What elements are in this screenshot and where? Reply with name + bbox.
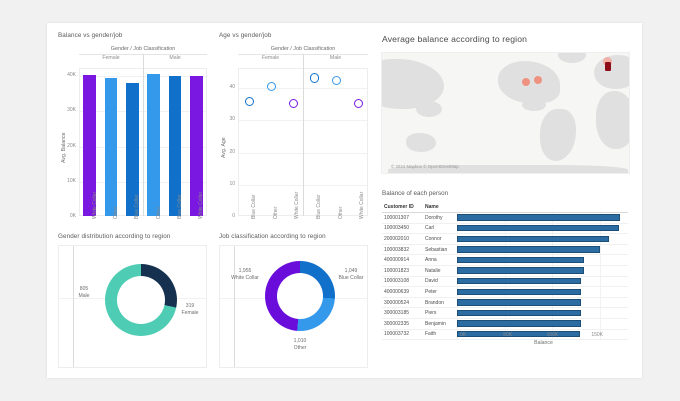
x-category-age: Blue Collar xyxy=(251,195,257,219)
cell-balance-bar xyxy=(457,255,628,265)
cell-balance-bar xyxy=(457,308,628,318)
cell-customer-id: 300002335 xyxy=(382,321,425,327)
cell-balance-bar xyxy=(457,266,628,276)
x-category-age: Blue Collar xyxy=(316,195,322,219)
x-axis-label-balance: Balance xyxy=(463,340,624,346)
gridline xyxy=(600,255,601,265)
x-category-age: Other xyxy=(273,206,279,219)
cell-customer-id: 100003450 xyxy=(382,225,425,231)
cell-customer-id: 100001823 xyxy=(382,268,425,274)
x-category-balance: Other xyxy=(113,206,119,219)
cell-customer-id: 200002010 xyxy=(382,236,425,242)
panel-average-balance-map: Average balance according to region © 20… xyxy=(374,28,637,186)
cell-balance-bar xyxy=(457,319,628,329)
cell-name: Peter xyxy=(425,289,457,295)
gridline xyxy=(600,266,601,276)
donut-label-blue-collar: 1,049Blue Collar xyxy=(330,268,372,282)
panel-title-job-classification: Job classification according to region xyxy=(213,229,373,243)
y-tick-age: 30 xyxy=(221,116,235,122)
y-tick-balance: 10K xyxy=(62,178,76,184)
column-header[interactable]: Customer ID xyxy=(382,204,425,210)
x-tick-balance: 50K xyxy=(503,332,512,338)
landmass-greenland xyxy=(558,52,586,63)
y-tick-balance: 20K xyxy=(62,143,76,149)
scatter-point-age[interactable] xyxy=(310,73,319,82)
bar-person-balance[interactable] xyxy=(457,214,620,220)
donut-label-other: 1,010Other xyxy=(278,338,322,352)
cell-name: Benjamin xyxy=(425,321,457,327)
map-marker-uk-core[interactable] xyxy=(605,62,611,71)
y-tick-age: 20 xyxy=(221,149,235,155)
bar-person-balance[interactable] xyxy=(457,310,581,316)
bar-person-balance[interactable] xyxy=(457,299,581,305)
landmass-australia xyxy=(406,133,436,152)
panel-gender-distribution: Gender distribution according to region … xyxy=(52,229,212,373)
map-title: Average balance according to region xyxy=(374,28,637,44)
x-axis-person-balance: 150K100K50K0K Balance xyxy=(463,332,624,346)
gender-job-caption-age: Gender / Job Classification xyxy=(238,46,368,52)
x-category-balance: White Collar xyxy=(198,192,204,219)
cell-name: Piers xyxy=(425,310,457,316)
bar-person-balance[interactable] xyxy=(457,257,584,263)
cell-customer-id: 400000914 xyxy=(382,257,425,263)
x-tick-balance: 100K xyxy=(547,332,559,338)
landmass-south-america xyxy=(540,109,576,161)
gridline xyxy=(600,245,601,255)
gender-divider-age xyxy=(303,54,304,216)
table-row[interactable]: 300000524Brandon xyxy=(382,298,628,309)
table-row[interactable]: 300002335Benjamin xyxy=(382,319,628,330)
table-row[interactable]: 100003108David xyxy=(382,277,628,288)
y-tick-age: 10 xyxy=(221,181,235,187)
cell-balance-bar xyxy=(457,287,628,297)
cell-name: Carl xyxy=(425,225,457,231)
group-header-male-age: Male xyxy=(303,55,368,61)
bar-person-balance[interactable] xyxy=(457,289,581,295)
scatter-point-age[interactable] xyxy=(354,99,363,108)
group-header-female: Female xyxy=(79,55,143,61)
group-header-male: Male xyxy=(143,55,207,61)
cell-name: David xyxy=(425,278,457,284)
table-row[interactable]: 100001823Natalie xyxy=(382,266,628,277)
bar-person-balance[interactable] xyxy=(457,236,609,242)
bar-person-balance[interactable] xyxy=(457,267,584,273)
gender-job-caption: Gender / Job Classification xyxy=(79,46,207,52)
cell-name: Natalie xyxy=(425,268,457,274)
scatter-point-age[interactable] xyxy=(289,99,298,108)
panel-title-balance: Balance vs gender/job xyxy=(52,28,212,42)
cell-customer-id: 100003832 xyxy=(382,247,425,253)
cell-balance-bar xyxy=(457,245,628,255)
group-header-female-age: Female xyxy=(238,55,303,61)
panel-balance-vs-gender-job: Balance vs gender/job Gender / Job Class… xyxy=(52,28,212,228)
cell-balance-bar xyxy=(457,224,628,234)
gender-divider xyxy=(143,54,144,216)
landmass-africa xyxy=(596,91,630,149)
cell-name: Anna xyxy=(425,257,457,263)
x-category-balance: Other xyxy=(156,206,162,219)
job-donut-area: 1,955White Collar 1,049Blue Collar 1,010… xyxy=(219,245,368,368)
column-header[interactable]: Name xyxy=(425,204,457,210)
cell-balance-bar xyxy=(457,213,628,223)
scatter-point-age[interactable] xyxy=(267,82,276,91)
page-background: Balance vs gender/job Gender / Job Class… xyxy=(0,0,680,401)
panel-title-age: Age vs gender/job xyxy=(213,28,373,42)
map-marker-us-east[interactable] xyxy=(534,76,542,84)
table-row[interactable]: 200002010Connor xyxy=(382,234,628,245)
gridline xyxy=(600,287,601,297)
table-row[interactable]: 100003450Carl xyxy=(382,224,628,235)
map-attribution: © 2024 Mapbox © OpenStreetMap xyxy=(391,164,459,169)
gridline xyxy=(600,277,601,287)
gridline xyxy=(600,298,601,308)
x-category-balance: Blue Collar xyxy=(134,195,140,219)
y-tick-balance: 40K xyxy=(62,72,76,78)
cell-customer-id: 100003108 xyxy=(382,278,425,284)
donut-label-white-collar: 1,955White Collar xyxy=(224,268,266,282)
panel-job-classification: Job classification according to region 1… xyxy=(213,229,373,373)
panel-age-vs-gender-job: Age vs gender/job Gender / Job Classific… xyxy=(213,28,373,228)
y-tick-balance: 30K xyxy=(62,107,76,113)
x-category-balance: Blue Collar xyxy=(177,195,183,219)
cell-customer-id: 300003185 xyxy=(382,310,425,316)
x-category-age: White Collar xyxy=(294,192,300,219)
y-tick-balance: 0K xyxy=(62,213,76,219)
donut-label-female: 319Female xyxy=(173,303,207,317)
x-category-age: White Collar xyxy=(359,192,365,219)
bar-balance[interactable] xyxy=(105,78,118,216)
gridline xyxy=(600,308,601,318)
person-balance-table[interactable]: Customer IDName100001307Dorothy100003450… xyxy=(382,202,628,340)
donut-label-male: 805Male xyxy=(67,286,101,300)
table-row[interactable]: 100003832Sebastian xyxy=(382,245,628,256)
cell-name: Sebastian xyxy=(425,247,457,253)
cell-customer-id: 400000639 xyxy=(382,289,425,295)
cell-customer-id: 100003732 xyxy=(382,331,425,337)
map-canvas[interactable]: © 2024 Mapbox © OpenStreetMap xyxy=(381,52,630,174)
bar-person-balance[interactable] xyxy=(457,320,581,326)
cell-name: Dorothy xyxy=(425,215,457,221)
table-row[interactable]: 400000639Peter xyxy=(382,287,628,298)
x-category-age: Other xyxy=(338,206,344,219)
gender-donut-hole xyxy=(117,276,165,324)
dashboard-canvas: Balance vs gender/job Gender / Job Class… xyxy=(47,23,642,378)
panel-title-gender-distribution: Gender distribution according to region xyxy=(52,229,212,243)
landmass-europe xyxy=(594,55,630,89)
gender-donut-area: 805Male 319Female xyxy=(58,245,207,368)
map-marker-us-west[interactable] xyxy=(522,78,530,86)
y-tick-age: 0 xyxy=(221,213,235,219)
landmass-se-asia xyxy=(416,101,442,117)
table-row[interactable]: 300003185Piers xyxy=(382,308,628,319)
x-tick-balance: 0K xyxy=(460,332,466,338)
panel-balance-of-each-person: Balance of each person Customer IDName10… xyxy=(374,186,637,373)
job-donut-hole xyxy=(277,273,323,319)
panel-title-person-balance: Balance of each person xyxy=(374,186,637,200)
table-row[interactable]: 400000914Anna xyxy=(382,255,628,266)
column-header-balance xyxy=(457,202,628,212)
x-tick-balance: 150K xyxy=(591,332,603,338)
bar-person-balance[interactable] xyxy=(457,246,600,252)
cell-customer-id: 300000524 xyxy=(382,300,425,306)
bar-person-balance[interactable] xyxy=(457,225,619,231)
cell-name: Faith xyxy=(425,331,457,337)
cell-name: Brandon xyxy=(425,300,457,306)
y-tick-age: 40 xyxy=(221,84,235,90)
table-header-row: Customer IDName xyxy=(382,202,628,213)
cell-customer-id: 100001307 xyxy=(382,215,425,221)
cell-balance-bar xyxy=(457,234,628,244)
landmass-central-america xyxy=(522,99,546,111)
cell-balance-bar xyxy=(457,277,628,287)
x-category-balance: White Collar xyxy=(92,192,98,219)
cell-balance-bar xyxy=(457,298,628,308)
table-row[interactable]: 100001307Dorothy xyxy=(382,213,628,224)
cell-name: Connor xyxy=(425,236,457,242)
bar-balance[interactable] xyxy=(147,74,160,216)
bar-person-balance[interactable] xyxy=(457,278,581,284)
gridline xyxy=(600,319,601,329)
